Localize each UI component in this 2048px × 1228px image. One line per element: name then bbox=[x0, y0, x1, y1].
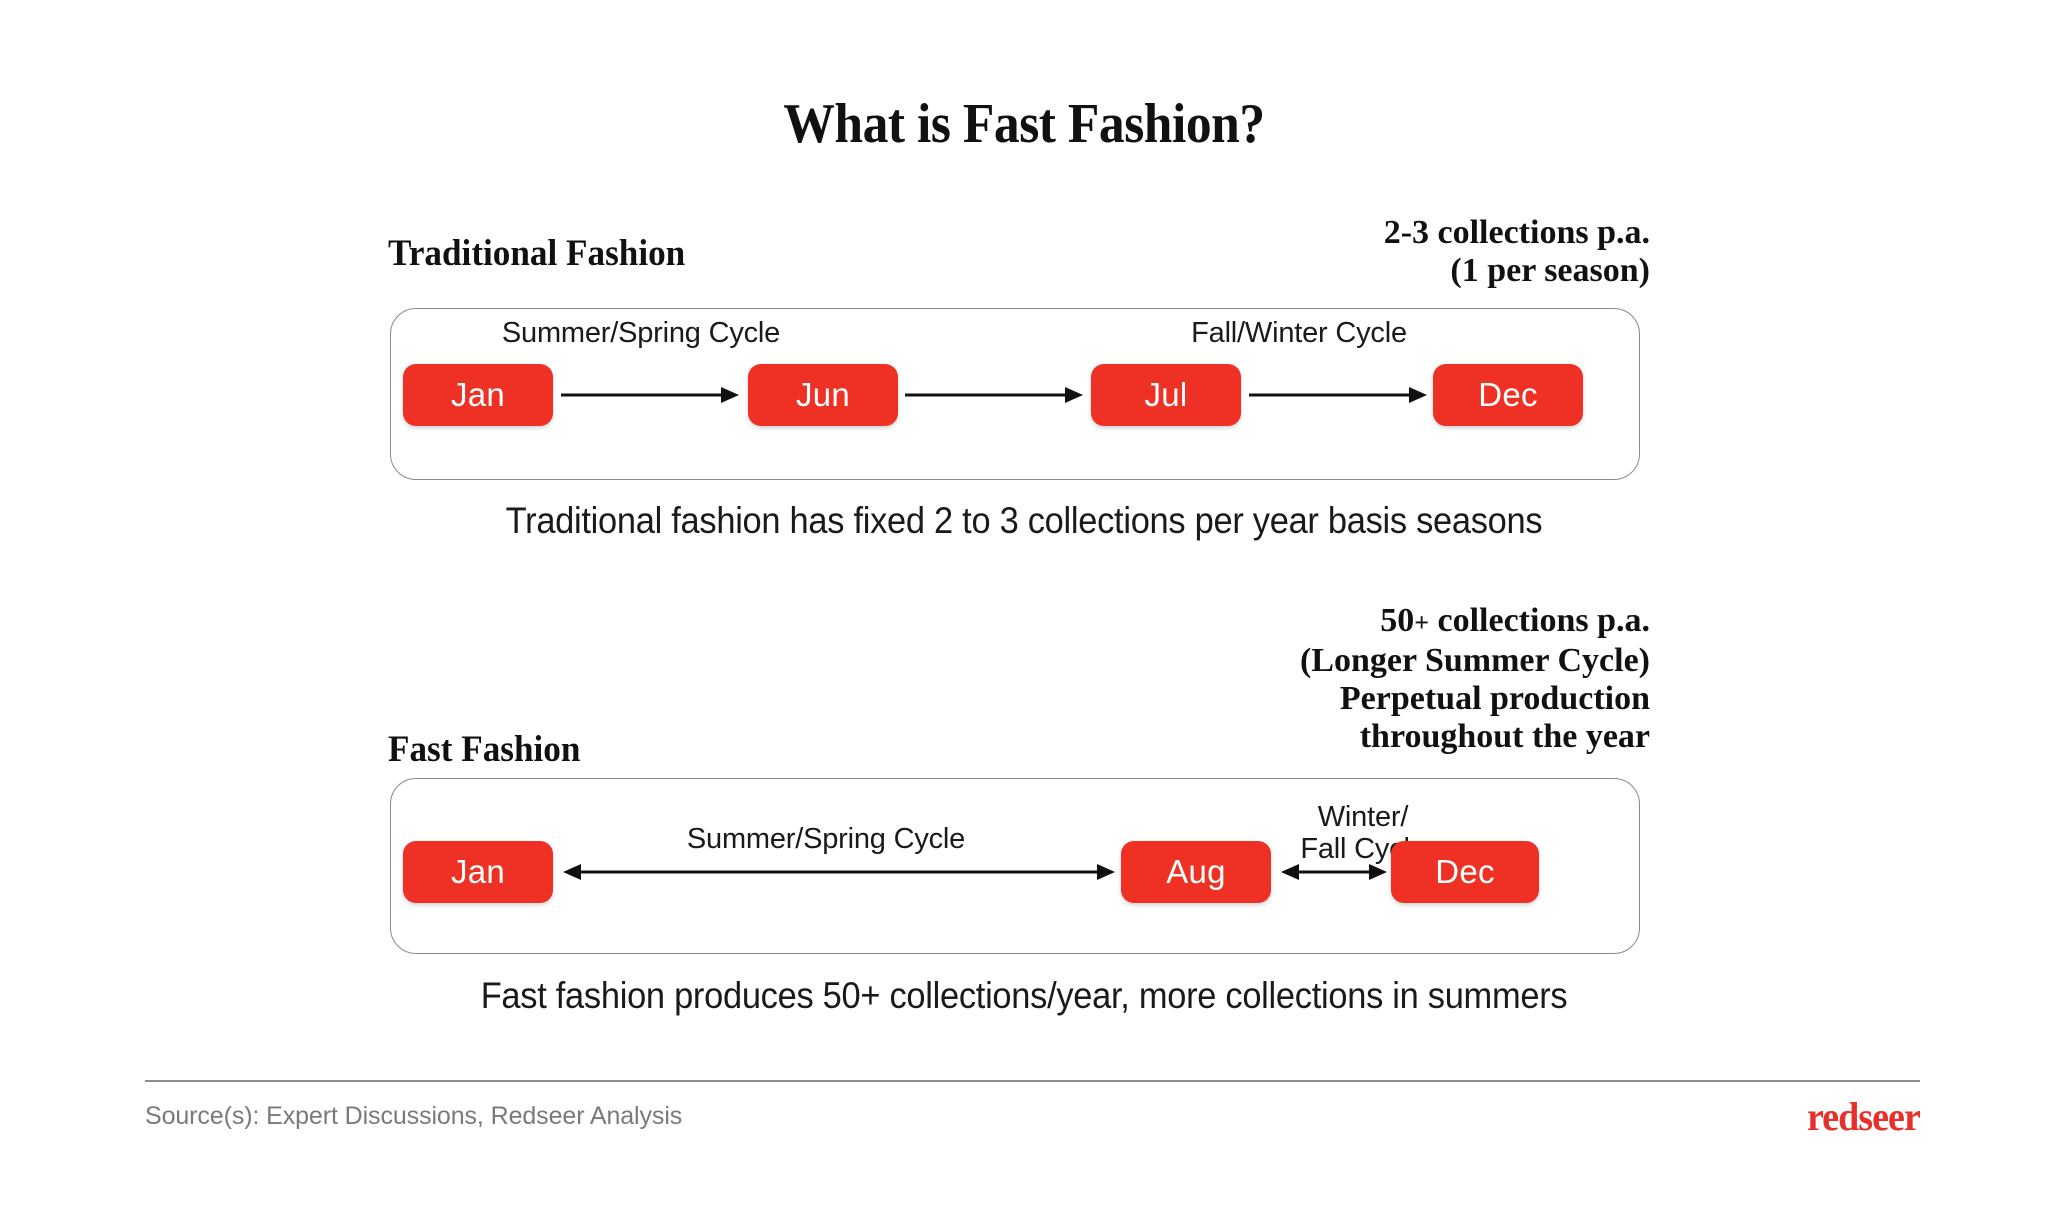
milestone-pill-jan-fast[interactable]: Jan bbox=[403, 841, 553, 903]
caption-traditional: Traditional fashion has fixed 2 to 3 col… bbox=[72, 500, 1977, 542]
annotation-traditional-line1: 2-3 collections p.a. bbox=[1384, 214, 1650, 252]
annotation-fast: 50+ collections p.a. (Longer Summer Cycl… bbox=[1300, 602, 1650, 756]
flow-container-fast: Summer/Spring Cycle Winter/ Fall Cycle J… bbox=[390, 778, 1640, 954]
annotation-fast-line1-main: 50 bbox=[1380, 602, 1414, 639]
milestone-pill-dec-fast[interactable]: Dec bbox=[1391, 841, 1539, 903]
page-title: What is Fast Fashion? bbox=[82, 92, 1966, 156]
annotation-traditional: 2-3 collections p.a. (1 per season) bbox=[1384, 214, 1650, 290]
milestone-pill-jan-traditional[interactable]: Jan bbox=[403, 364, 553, 426]
annotation-fast-line1-plus: + bbox=[1414, 608, 1429, 637]
arrow-right-jan-to-jun-icon bbox=[561, 384, 741, 406]
footer-source-text: Source(s): Expert Discussions, Redseer A… bbox=[145, 1102, 682, 1131]
redseer-logo: redseer bbox=[1807, 1093, 1920, 1140]
annotation-fast-line2: (Longer Summer Cycle) bbox=[1300, 642, 1650, 680]
arrow-right-jul-to-dec-icon bbox=[1249, 384, 1429, 406]
arrow-bidirectional-aug-to-dec-icon bbox=[1281, 861, 1387, 883]
arrow-right-jun-to-jul-icon bbox=[905, 384, 1085, 406]
arrow-bidirectional-jan-to-aug-icon bbox=[563, 861, 1115, 883]
milestone-pill-aug-fast[interactable]: Aug bbox=[1121, 841, 1271, 903]
cycle-label-fall-winter-traditional: Fall/Winter Cycle bbox=[1129, 317, 1469, 349]
slide-canvas: What is Fast Fashion? Traditional Fashio… bbox=[0, 0, 2048, 1228]
section-label-fast: Fast Fashion bbox=[388, 728, 580, 771]
annotation-traditional-line2: (1 per season) bbox=[1384, 252, 1650, 290]
annotation-fast-line3: Perpetual production bbox=[1300, 680, 1650, 718]
milestone-pill-dec-traditional[interactable]: Dec bbox=[1433, 364, 1583, 426]
caption-fast: Fast fashion produces 50+ collections/ye… bbox=[72, 975, 1977, 1017]
milestone-pill-jun-traditional[interactable]: Jun bbox=[748, 364, 898, 426]
annotation-fast-line1-rest: collections p.a. bbox=[1429, 602, 1650, 639]
cycle-label-summer-spring-traditional: Summer/Spring Cycle bbox=[471, 317, 811, 349]
section-label-traditional: Traditional Fashion bbox=[388, 232, 685, 275]
annotation-fast-line1: 50+ collections p.a. bbox=[1300, 602, 1650, 642]
footer-divider bbox=[145, 1080, 1920, 1082]
flow-container-traditional: Summer/Spring Cycle Fall/Winter Cycle Ja… bbox=[390, 308, 1640, 480]
milestone-pill-jul-traditional[interactable]: Jul bbox=[1091, 364, 1241, 426]
cycle-label-summer-spring-fast: Summer/Spring Cycle bbox=[551, 823, 1101, 855]
annotation-fast-line4: throughout the year bbox=[1300, 718, 1650, 756]
